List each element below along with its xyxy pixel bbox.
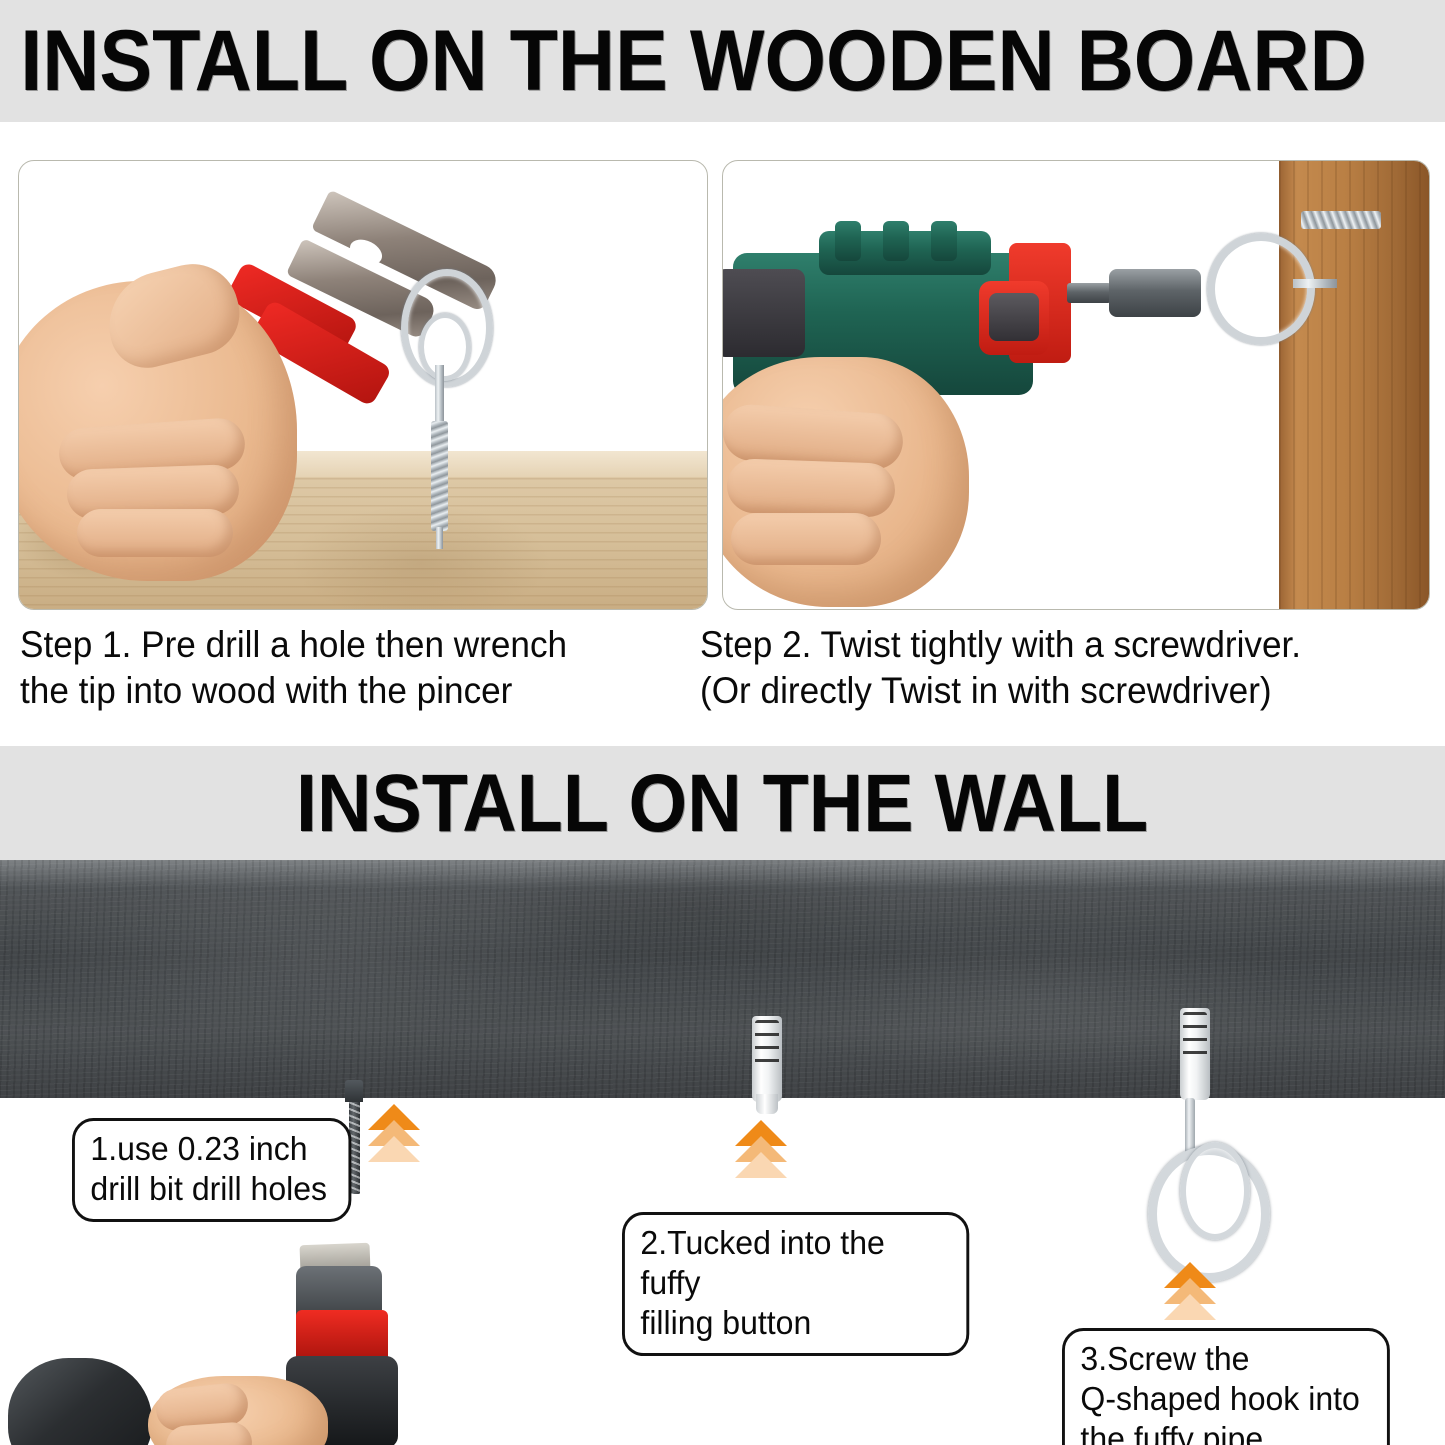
- q-shaped-hook-installed: [1140, 1098, 1290, 1268]
- chevron-up-icon: [1164, 1294, 1216, 1320]
- chevron-up-icon: [735, 1152, 787, 1178]
- wooden-board-title: INSTALL ON THE WOODEN BOARD: [0, 11, 1367, 111]
- hook-screw-threads: [1301, 211, 1381, 229]
- finger-b: [726, 458, 896, 518]
- drill-battery-pack: [8, 1358, 152, 1445]
- chevron-group-3: [1164, 1262, 1216, 1310]
- screwdriver-shank: [1067, 283, 1111, 303]
- section-header-wooden-board: INSTALL ON THE WOODEN BOARD: [0, 0, 1445, 122]
- callout-step-3: 3.Screw the Q-shaped hook into the fuffy…: [1062, 1328, 1390, 1445]
- hook-screw-shaft: [1293, 279, 1337, 288]
- wall-anchor-plug-right: [1180, 1008, 1210, 1100]
- q-shaped-screw-hook: [391, 269, 511, 589]
- direction-switch: [989, 293, 1039, 341]
- q-hook-in-driver: [1193, 221, 1333, 381]
- callout-step-2: 2.Tucked into the fuffy filling button: [622, 1212, 969, 1356]
- wall-title: INSTALL ON THE WALL: [296, 756, 1148, 852]
- chevron-group-1: [368, 1104, 420, 1152]
- step2-photo-card: [722, 160, 1430, 610]
- chevron-group-2: [735, 1120, 787, 1168]
- screwdriver-chuck: [1109, 269, 1201, 317]
- hook-ring: [1207, 233, 1315, 345]
- drill-red-ring: [296, 1310, 388, 1362]
- callout-step-1: 1.use 0.23 inch drill bit drill holes: [72, 1118, 351, 1222]
- step1-photo-card: [18, 160, 708, 610]
- screwdriver-ridge-2: [883, 221, 909, 261]
- infographic-page: INSTALL ON THE WOODEN BOARD: [0, 0, 1445, 1445]
- hook-tip: [436, 527, 443, 549]
- hook-threads: [431, 421, 448, 531]
- anchor-collar-middle: [756, 1094, 778, 1114]
- step1-caption: Step 1. Pre drill a hole then wrench the…: [20, 622, 676, 714]
- screwdriver-ridge-3: [931, 221, 957, 261]
- concrete-wall-image: [0, 860, 1445, 1098]
- hook-inner-loop: [419, 313, 471, 381]
- anchor-ribs-right: [1183, 1012, 1207, 1064]
- screwdriver-grip: [722, 269, 805, 357]
- section-header-wall: INSTALL ON THE WALL: [0, 746, 1445, 862]
- anchor-ribs: [755, 1020, 779, 1068]
- drill-bit-tip-in-wall: [345, 1080, 363, 1102]
- screwdriver-ridge-1: [835, 221, 861, 261]
- finger-c: [731, 513, 881, 565]
- hook-shaft: [435, 365, 444, 427]
- step2-caption: Step 2. Twist tightly with a screwdriver…: [700, 622, 1403, 714]
- chevron-up-icon: [368, 1136, 420, 1162]
- finger-3: [77, 509, 233, 557]
- hook-inner-ring: [1180, 1142, 1250, 1240]
- wall-anchor-plug-middle: [752, 1016, 782, 1102]
